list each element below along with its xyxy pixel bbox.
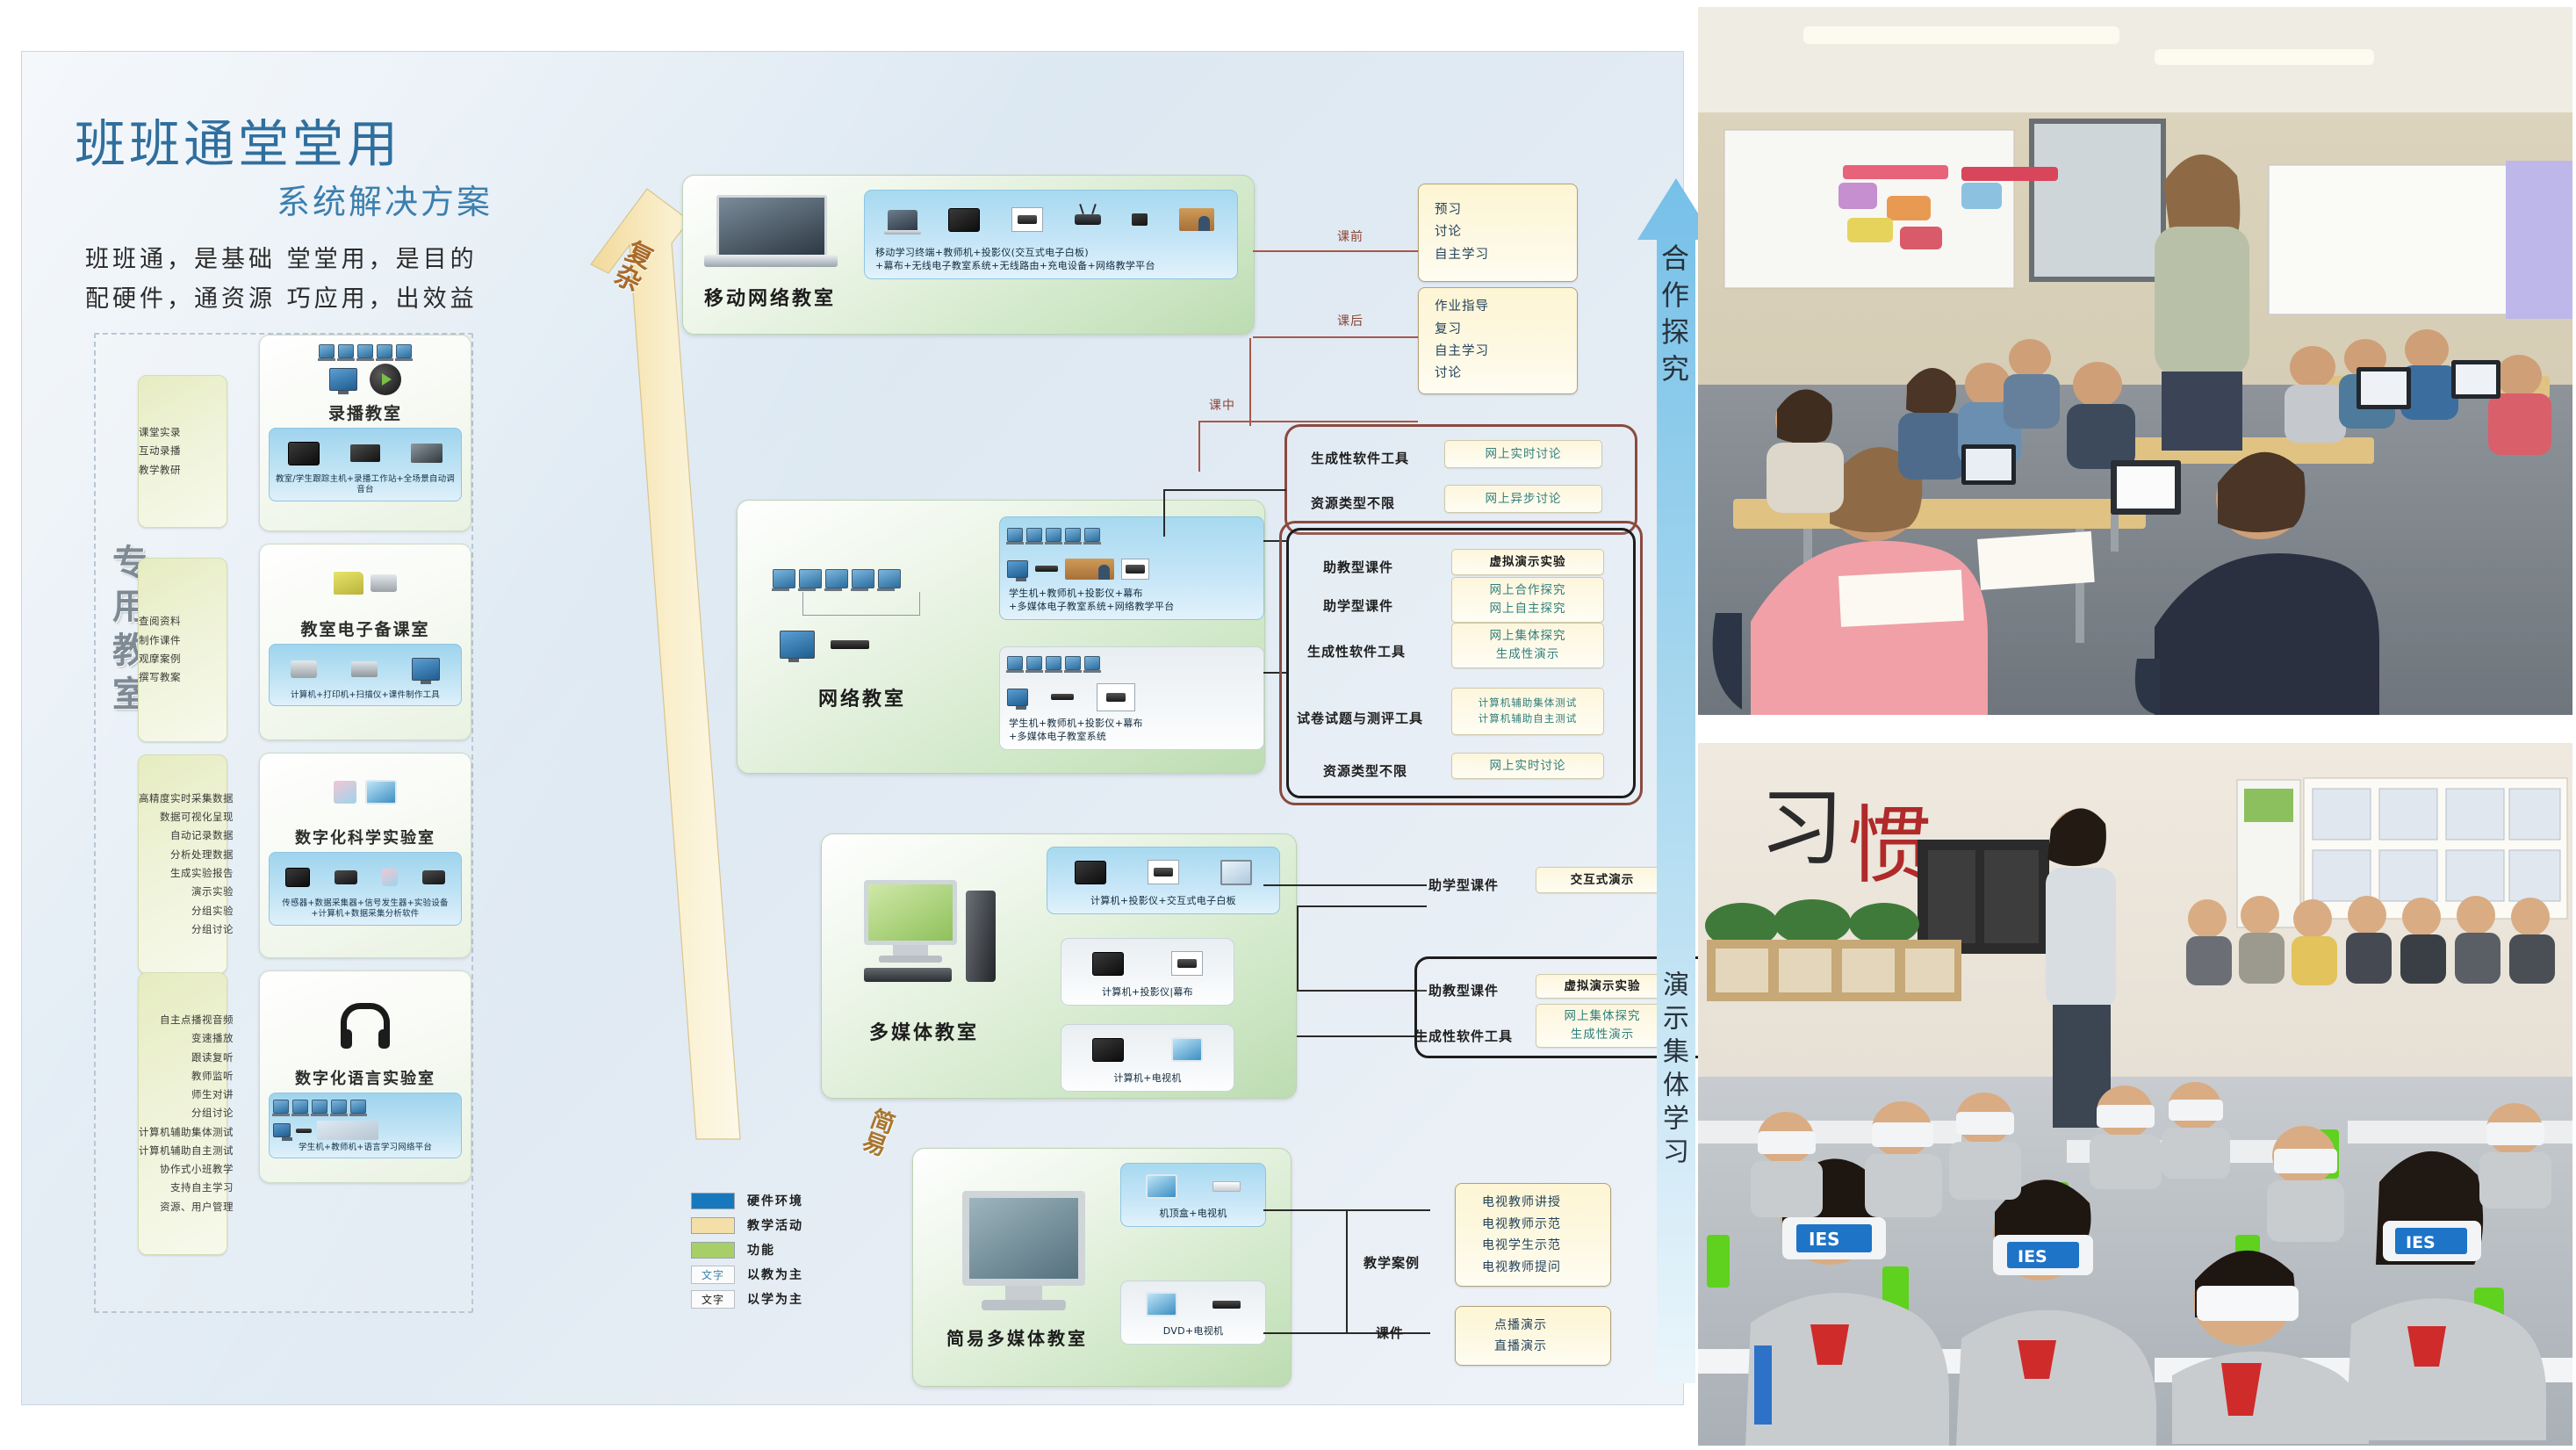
room-card-lesson-prep[interactable]: 教室电子备课室 计算机+打印机+扫描仪+课件制作工具: [259, 544, 471, 740]
config-caption: 计算机+投影仪|幕布: [1069, 986, 1227, 999]
set-top-box-icon: [1212, 1181, 1241, 1192]
activity-pill[interactable]: 网上合作探究 网上自主探究: [1451, 577, 1604, 623]
svg-text:IES: IES: [2018, 1247, 2047, 1266]
config-multimedia-c: 计算机+电视机: [1061, 1024, 1234, 1092]
disc-icon: [370, 364, 401, 395]
legend-chip-student-led: 文字: [691, 1290, 735, 1309]
beaker-icon: [334, 781, 356, 804]
label-pre-class: 课前: [1337, 227, 1364, 245]
activity-pill[interactable]: 计算机辅助集体测试 计算机辅助自主测试: [1451, 688, 1604, 735]
row-label: 生成性软件工具: [1307, 642, 1406, 660]
slogan-line-2: 配硬件，通资源 巧应用，出效益: [85, 280, 478, 320]
room-icons: [329, 360, 401, 399]
room-card-science-lab[interactable]: 数字化科学实验室 传感器+数据采集器+信号发生器+实验设备 +计算机+数据采集分…: [259, 753, 471, 958]
hardware-caption: 教室/学生跟踪主机+录播工作站+全场景自动调音台: [273, 474, 457, 496]
config-caption: DVD+电视机: [1128, 1325, 1258, 1338]
row-label: 课件: [1376, 1324, 1404, 1342]
projector-icon: [1097, 683, 1135, 711]
stage-title: 网络教室: [818, 683, 906, 711]
connector-vertical-2: [1198, 421, 1200, 472]
activity-pill[interactable]: 网上集体探究 生成性演示: [1451, 623, 1604, 668]
diagram-panel: 班班通堂堂用 系统解决方案 班班通，是基础 堂堂用，是目的 配硬件，通资源 巧应…: [21, 51, 1684, 1405]
teacher-pc-icon: [1007, 560, 1028, 578]
legend-item-function: 功能: [691, 1239, 919, 1260]
legend-item-teacher-led: 文字 以教为主: [691, 1264, 919, 1285]
config-simple-b: DVD+电视机: [1120, 1280, 1266, 1345]
room-title: 数字化科学实验室: [295, 826, 435, 848]
stage-title: 多媒体教室: [869, 1017, 979, 1045]
function-card-science-lab: 高精度实时采集数据 数据可视化呈现 自动记录数据 分析处理数据 生成实验报告 演…: [138, 754, 227, 974]
networked-pcs-icon: [1007, 528, 1100, 542]
headset-icon: [341, 1003, 390, 1035]
connector-vertical: [1249, 338, 1251, 426]
keyboard-icon: [296, 1129, 312, 1133]
tv-icon: [1146, 1292, 1177, 1317]
computer-icon: [412, 658, 440, 681]
classroom-tablets-photo: [1698, 7, 2572, 715]
label-post-class: 课后: [1337, 312, 1364, 329]
room-title: 教室电子备课室: [300, 617, 429, 640]
hardware-strip: 教室/学生跟踪主机+录播工作站+全场景自动调音台: [269, 428, 462, 501]
tv-icon: [1171, 1037, 1203, 1062]
config-caption: 计算机+投影仪+交互式电子白板: [1054, 895, 1272, 908]
router-icon: [1075, 214, 1101, 225]
monitor-icon: [288, 442, 320, 465]
server-icons: [780, 631, 869, 659]
label-in-class: 课中: [1209, 396, 1235, 414]
row-label: 生成性软件工具: [1311, 449, 1409, 467]
laptop-icon: [888, 210, 917, 230]
room-icons: [341, 982, 390, 1056]
function-card-language-lab: 自主点播视音频 变速播放 跟读复听 教师监听 师生对讲 分组讨论 计算机辅助集体…: [138, 972, 227, 1255]
complexity-low-label: 简易: [853, 1103, 901, 1159]
connector-in-class: [1198, 421, 1418, 422]
function-card-recording: 课堂实录 互动录播 教学教研: [138, 375, 227, 528]
workstation-icon: [350, 444, 380, 462]
printer-icon: [291, 660, 317, 678]
activity-pill[interactable]: 网上实时讨论: [1451, 753, 1604, 779]
page-subtitle: 系统解决方案: [277, 175, 493, 223]
activity-pill[interactable]: 网上实时讨论: [1444, 440, 1602, 468]
legend-item-hardware: 硬件环境: [691, 1190, 919, 1211]
switch-icon: [1035, 566, 1058, 572]
config-caption: 学生机+教师机+投影仪+幕布 +多媒体电子教室系统: [1007, 718, 1256, 744]
svg-text:IES: IES: [2406, 1233, 2436, 1252]
charger-icon: [1132, 213, 1148, 226]
projector-icon: [1148, 860, 1179, 884]
room-card-language-lab[interactable]: 数字化语言实验室 学生机+教师机+语言学习网络平台: [259, 970, 471, 1183]
legend-item-student-led: 文字 以学为主: [691, 1288, 919, 1309]
activity-box-pre-class[interactable]: 预习 讨论 自主学习: [1418, 184, 1578, 282]
connector-line: [1297, 905, 1299, 992]
page-title: 班班通堂堂用: [75, 103, 401, 177]
room-icons: [334, 552, 397, 615]
stage-title: 简易多媒体教室: [946, 1324, 1088, 1350]
platform-icon: [1179, 208, 1214, 231]
row-label: 生成性软件工具: [1414, 1027, 1513, 1045]
scanner-icon: [351, 661, 378, 677]
config-simple-a: 机顶盒+电视机: [1120, 1163, 1266, 1227]
svg-text:IES: IES: [1809, 1229, 1840, 1250]
legend-item-activity: 教学活动: [691, 1215, 919, 1236]
row-label: 资源类型不限: [1311, 494, 1395, 512]
activity-pill[interactable]: 网上异步讨论: [1444, 485, 1602, 513]
row-label: 教学案例: [1364, 1253, 1420, 1272]
connector-line: [1163, 489, 1165, 537]
hardware-strip: 传感器+数据采集器+信号发生器+实验设备 +计算机+数据采集分析软件: [269, 852, 462, 926]
platform-icon: [1065, 559, 1114, 580]
stage-network-classroom[interactable]: 网络教室 学生机+教师机+投影仪+幕布 +多媒体电子教室系统+网络教学平台: [737, 500, 1265, 774]
config-caption: 机顶盒+电视机: [1128, 1208, 1258, 1221]
row-label: 资源类型不限: [1323, 761, 1407, 780]
sensor-icon: [422, 870, 445, 884]
config-caption: 计算机+电视机: [1069, 1072, 1227, 1086]
stage-title: 移动网络教室: [704, 283, 836, 311]
switch-icon: [1051, 694, 1074, 700]
svg-text:习: 习: [1759, 779, 1844, 877]
monitor-icon: [285, 868, 310, 887]
folder-icon: [334, 572, 363, 595]
row-label: 助教型课件: [1323, 558, 1393, 576]
desktop-computer-icon: [864, 880, 996, 982]
slogan: 班班通，是基础 堂堂用，是目的 配硬件，通资源 巧应用，出效益: [85, 241, 478, 319]
stage-multimedia-classroom[interactable]: 多媒体教室 计算机+投影仪+交互式电子白板 计算机+投影仪|幕布: [821, 833, 1297, 1099]
connector-post-class: [1253, 336, 1418, 338]
hardware-strip: 计算机+打印机+扫描仪+课件制作工具: [269, 644, 462, 706]
hardware-caption: 计算机+打印机+扫描仪+课件制作工具: [273, 690, 457, 701]
config-multimedia-a: 计算机+投影仪+交互式电子白板: [1047, 847, 1280, 914]
projector-icon: [1011, 207, 1043, 232]
networked-pcs-icon: [1007, 656, 1100, 670]
legend-swatch-function: [691, 1242, 735, 1259]
activity-box-teaching-cases[interactable]: 电视教师讲授 电视教师示范 电视学生示范 电视教师提问: [1455, 1183, 1611, 1287]
connector-line: [1297, 990, 1427, 992]
lab-stand-icon: [382, 869, 398, 886]
tablet-icon: [365, 780, 397, 804]
crt-monitor-icon: [962, 1191, 1085, 1310]
projector-icon: [1171, 951, 1203, 976]
networked-pcs-icon: [773, 569, 901, 588]
network-bus-line: [802, 592, 920, 616]
hardware-strip: 学生机+教师机+语言学习网络平台: [269, 1093, 462, 1158]
pedagogy-label-bottom: 演示集体学习: [1653, 970, 1692, 1171]
tv-icon: [1146, 1174, 1177, 1199]
teacher-pc-icon: [948, 208, 980, 232]
mixer-icon: [411, 444, 443, 463]
legend: 硬件环境 教学活动 功能 文字 以教为主 文字 以学为主: [691, 1190, 919, 1313]
connector-line: [1163, 489, 1286, 491]
legend-chip-teacher-led: 文字: [691, 1266, 735, 1284]
dvd-player-icon: [1212, 1301, 1241, 1309]
networked-pcs-icon: [319, 344, 412, 358]
stage-simple-multimedia-classroom[interactable]: 简易多媒体教室 机顶盒+电视机 DVD+电视机: [912, 1148, 1292, 1387]
platform-screenshot-icon: [317, 1121, 378, 1140]
monitor-icon: [329, 368, 357, 391]
connector-line: [1297, 905, 1427, 907]
projector-icon: [1121, 559, 1149, 580]
room-icons: [334, 761, 397, 824]
connector-line: [1263, 884, 1427, 886]
poster-root: 班班通堂堂用 系统解决方案 班班通，是基础 堂堂用，是目的 配硬件，通资源 巧应…: [0, 0, 2576, 1450]
switch-icon: [831, 640, 869, 649]
connector-line: [1263, 1332, 1430, 1334]
row-label: 试卷试题与测评工具: [1297, 709, 1423, 727]
config-mobile: 移动学习终端+教师机+投影仪(交互式电子白板) +幕布+无线电子教室系统+无线路…: [864, 190, 1238, 279]
whiteboard-icon: [1220, 860, 1252, 885]
activity-box-courseware[interactable]: 点播演示 直播演示: [1455, 1306, 1611, 1366]
legend-swatch-activity: [691, 1217, 735, 1234]
config-network-a: 学生机+教师机+投影仪+幕布 +多媒体电子教室系统+网络教学平台: [999, 516, 1264, 620]
config-caption: 移动学习终端+教师机+投影仪(交互式电子白板) +幕布+无线电子教室系统+无线路…: [872, 247, 1230, 273]
pedagogy-label-top: 合作探究: [1653, 243, 1694, 391]
room-title: 数字化语言实验室: [295, 1066, 435, 1089]
row-label: 助教型课件: [1428, 981, 1499, 999]
connector-line: [1297, 1035, 1427, 1037]
teacher-pc-icon: [1007, 689, 1028, 706]
printer-icon: [371, 574, 397, 592]
teacher-pc-icon: [273, 1123, 291, 1137]
row-label: 助学型课件: [1428, 876, 1499, 894]
classroom-vr-headsets-photo: 习 惯: [1698, 743, 2572, 1446]
function-card-lesson-prep: 查阅资料 制作课件 观摩案例 撰写教案: [138, 558, 227, 742]
legend-swatch-hardware: [691, 1193, 735, 1209]
room-title: 录播教室: [328, 400, 402, 424]
networked-pcs-icon: [273, 1100, 366, 1114]
connector-line: [1346, 1209, 1348, 1334]
stage-mobile-network-classroom[interactable]: 移动学习终端+教师机+投影仪(交互式电子白板) +幕布+无线电子教室系统+无线路…: [682, 175, 1255, 335]
connector-pre-class: [1253, 250, 1418, 252]
config-caption: 学生机+教师机+投影仪+幕布 +多媒体电子教室系统+网络教学平台: [1007, 588, 1256, 614]
data-collector-icon: [335, 870, 357, 884]
teacher-pc-icon: [780, 631, 815, 659]
hardware-caption: 传感器+数据采集器+信号发生器+实验设备 +计算机+数据采集分析软件: [273, 898, 457, 920]
row-label: 助学型课件: [1323, 596, 1393, 615]
laptop-icon: [697, 190, 864, 278]
config-multimedia-b: 计算机+投影仪|幕布: [1061, 938, 1234, 1006]
computer-icon: [1092, 1038, 1124, 1062]
hardware-caption: 学生机+教师机+语言学习网络平台: [273, 1143, 457, 1153]
activity-pill[interactable]: 虚拟演示实验: [1451, 549, 1604, 575]
slogan-line-1: 班班通，是基础 堂堂用，是目的: [85, 241, 478, 280]
computer-icon: [1092, 952, 1124, 976]
computer-icon: [1075, 861, 1106, 884]
activity-box-post-class[interactable]: 作业指导 复习 自主学习 讨论: [1418, 287, 1578, 394]
config-network-b: 学生机+教师机+投影仪+幕布 +多媒体电子教室系统: [999, 646, 1264, 750]
room-card-recording[interactable]: 录播教室 教室/学生跟踪主机+录播工作站+全场景自动调音台: [259, 335, 471, 531]
